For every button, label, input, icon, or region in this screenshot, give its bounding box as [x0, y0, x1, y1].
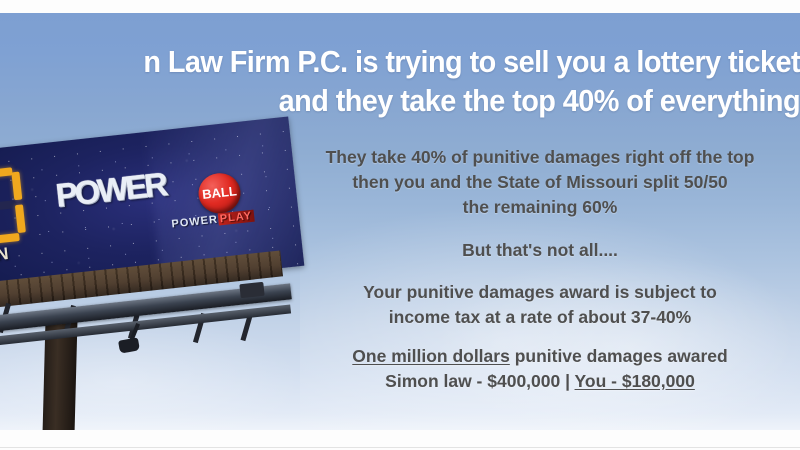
letterbox-band-top [0, 0, 800, 13]
paragraph-1-line-2: then you and the State of Missouri split… [290, 170, 790, 195]
paragraph-1-line-3: the remaining 60% [290, 195, 790, 220]
powerball-letter-r: R [142, 167, 168, 202]
segment-b [11, 172, 22, 201]
award-line-rest: punitive damages awared [510, 346, 728, 366]
slide-headline: n Law Firm P.C. is trying to sell you a … [0, 42, 800, 120]
firm-share-text: Simon law - $400,000 | [385, 371, 574, 391]
paragraph-3-line-2: income tax at a rate of about 37-40% [290, 305, 790, 330]
billboard-top-equipment-box [239, 282, 264, 298]
paragraph-2-line-1: But that's not all.... [290, 238, 790, 263]
paragraph-4-line-1: One million dollars punitive damages awa… [290, 344, 790, 369]
body-paragraph-1: They take 40% of punitive damages right … [290, 145, 790, 220]
body-paragraph-4: One million dollars punitive damages awa… [290, 344, 790, 394]
billboard-brace-5 [241, 315, 253, 341]
body-paragraph-2: But that's not all.... [290, 238, 790, 263]
headline-line-1: n Law Firm P.C. is trying to sell you a … [0, 42, 800, 81]
segment-g [0, 200, 16, 211]
paragraph-1-line-1: They take 40% of punitive damages right … [290, 145, 790, 170]
slide-body-copy: They take 40% of punitive damages right … [290, 145, 790, 394]
billboard-lamp-fixture [118, 337, 140, 353]
powerball-billboard-photo: ON P O W E R BALL POWERPLAY [0, 143, 322, 430]
award-amount-emphasis: One million dollars [352, 346, 510, 366]
body-paragraph-3: Your punitive damages award is subject t… [290, 280, 790, 330]
jackpot-unit-label: ON [0, 244, 11, 267]
paragraph-4-line-2: Simon law - $400,000 | You - $180,000 [290, 369, 790, 394]
slide-canvas: ON P O W E R BALL POWERPLAY [0, 13, 800, 430]
headline-line-2: and they take the top 40% of everything [0, 81, 800, 120]
client-share-emphasis: You - $180,000 [575, 371, 695, 391]
powerball-ball-label: BALL [198, 183, 241, 202]
segment-c [15, 204, 26, 233]
bottom-divider-line [0, 447, 800, 448]
slide-screenshot: ON P O W E R BALL POWERPLAY [0, 0, 800, 450]
paragraph-3-line-1: Your punitive damages award is subject t… [290, 280, 790, 305]
